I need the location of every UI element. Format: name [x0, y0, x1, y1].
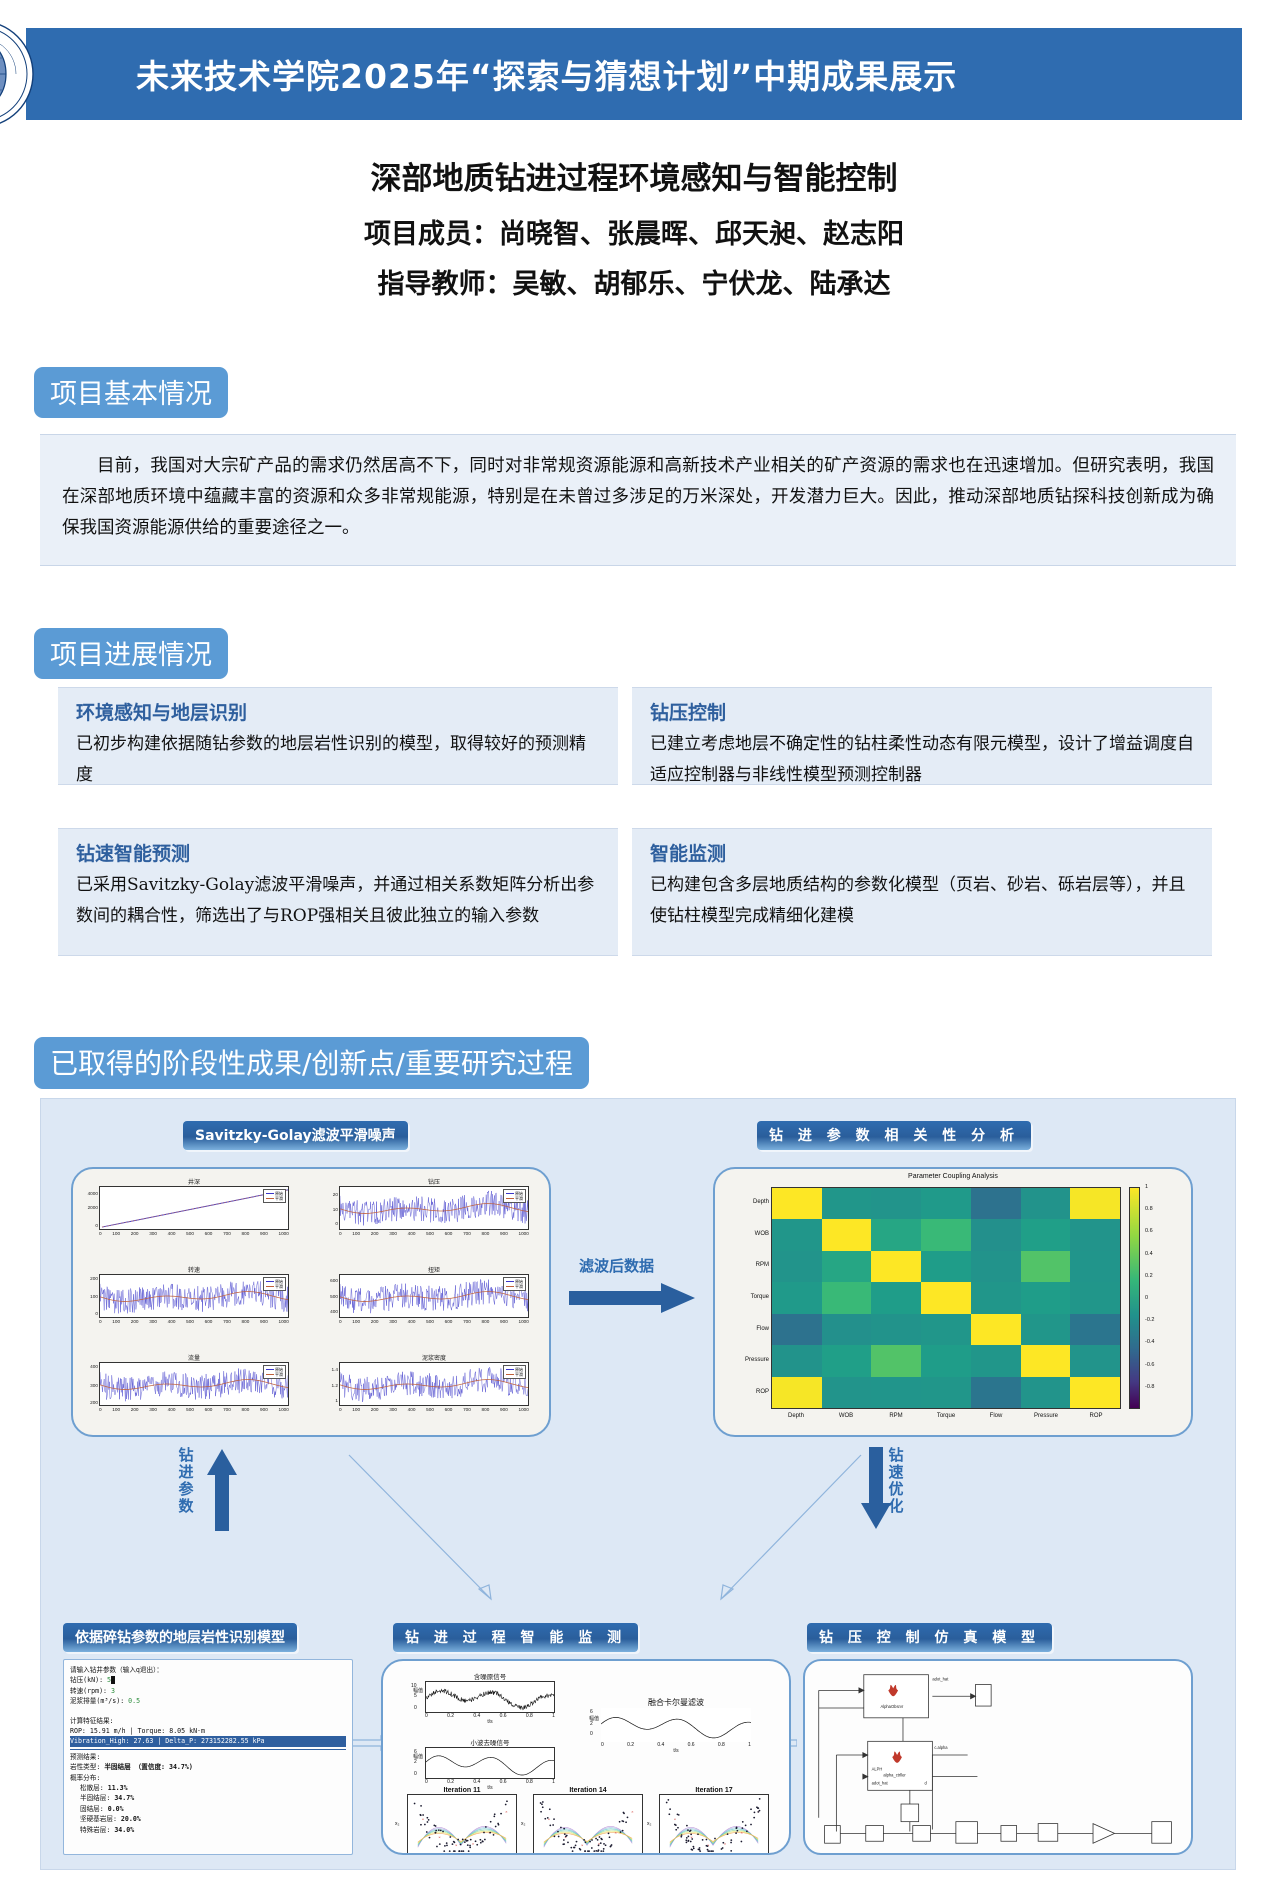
- iteration-title: Iteration 17: [659, 1787, 769, 1794]
- page-title: 深部地质钻进过程环境感知与智能控制: [0, 153, 1268, 198]
- legend: 原始 平滑: [263, 1189, 286, 1203]
- prediction-type-label: 岩性类型:: [70, 1763, 104, 1771]
- subplot-title: 泥浆密度: [339, 1353, 529, 1362]
- simulink-model-panel: AlphaObsrvr alpha_ctrller adot_hat c.alp…: [803, 1659, 1193, 1855]
- section-header-basic: 项目基本情况: [34, 367, 228, 418]
- heatmap-cell: [1070, 1251, 1120, 1282]
- y-axis-label: 幅值: [579, 1715, 599, 1722]
- monitoring-charts-panel: 含噪原信号 00.20.40.60.81 t/s 幅值 10 5 0 小波去噪信…: [381, 1659, 791, 1855]
- heatmap-cell: [772, 1251, 822, 1282]
- terminal-output: 请输入钻井参数（输入q退出）： 钻压(kN): 5| 转速(rpm): 3 泥浆…: [64, 1660, 352, 1840]
- heatmap-cell: [822, 1377, 872, 1408]
- heatmap-cell: [772, 1219, 822, 1250]
- heatmap-col-label: ROP: [1071, 1413, 1121, 1419]
- field-label: 钻压(kN):: [70, 1676, 107, 1684]
- field-value[interactable]: 3: [111, 1687, 115, 1695]
- card-body: 已采用Savitzky-Golay滤波平滑噪声，并通过相关系数矩阵分析出参数间的…: [76, 870, 602, 932]
- heatmap-cell: [971, 1314, 1021, 1345]
- probability-value: 20.0%: [121, 1815, 141, 1823]
- progress-card: 钻压控制 已建立考虑地层不确定性的钻柱柔性动态有限元模型，设计了增益调度自适应控…: [632, 687, 1212, 785]
- x-axis-label: t/s: [601, 1748, 751, 1754]
- heatmap-row-label: ROP: [721, 1389, 769, 1395]
- colorbar-tick: -0.8: [1145, 1384, 1154, 1390]
- pill-correlation: 钻 进 参 数 相 关 性 分 析: [757, 1121, 1031, 1150]
- probability-value: 0.0%: [108, 1805, 124, 1813]
- heatmap-cell: [921, 1251, 971, 1282]
- field-label: 转速(rpm):: [70, 1687, 111, 1695]
- subplot-title: 含噪原信号: [425, 1671, 555, 1681]
- probability-label: 特殊岩层:: [80, 1826, 114, 1834]
- probability-value: 11.3%: [108, 1784, 128, 1792]
- heatmap-row-label: Flow: [721, 1326, 769, 1332]
- colorbar-tick: -0.4: [1145, 1339, 1154, 1345]
- heatmap-cell: [822, 1282, 872, 1313]
- subplot-title: 井深: [99, 1177, 289, 1186]
- banner-title: 未来技术学院2025年“探索与猜想计划”中期成果展示: [136, 50, 957, 98]
- heatmap-cell: [921, 1188, 971, 1219]
- probability-value: 34.7%: [114, 1794, 134, 1802]
- svg-text:×: ×: [631, 1809, 633, 1814]
- prediction-type-value: 半固结层 （置信度: 34.7%): [104, 1763, 192, 1771]
- heatmap-row-label: RPM: [721, 1262, 769, 1268]
- heatmap-cell: [1070, 1188, 1120, 1219]
- heatmap-cell: [1021, 1314, 1071, 1345]
- heatmap-cell: [1070, 1282, 1120, 1313]
- iteration-panel: Iteration 17××××××x₁x₂: [659, 1787, 769, 1855]
- heatmap-cell: [772, 1345, 822, 1376]
- iteration-title: Iteration 14: [533, 1787, 643, 1794]
- heatmap-cell: [971, 1219, 1021, 1250]
- svg-text:adot_hat: adot_hat: [932, 1677, 949, 1682]
- field-label: 泥浆排量(m³/s):: [70, 1697, 128, 1705]
- card-body: 已构建包含多层地质结构的参数化模型（页岩、砂岩、砾岩层等），并且使钻柱模型完成精…: [650, 870, 1196, 932]
- heatmap-cell: [822, 1314, 872, 1345]
- arrow-label-drilling-params: 钻进参数: [177, 1447, 195, 1515]
- heatmap-row-label: Pressure: [721, 1357, 769, 1363]
- colorbar-tick: 1: [1145, 1184, 1148, 1190]
- section-header-results: 已取得的阶段性成果/创新点/重要研究过程: [34, 1037, 589, 1089]
- arrow-label-filtered-data: 滤波后数据: [579, 1255, 654, 1276]
- heatmap-cell: [1021, 1377, 1071, 1408]
- pill-sg-filter: Savitzky-Golay滤波平滑噪声: [183, 1121, 408, 1150]
- svg-text:c.alpha: c.alpha: [934, 1745, 948, 1750]
- calc-line-1: ROP: 15.91 m/h | Torque: 8.05 kN·m: [70, 1726, 346, 1736]
- svg-text:ALPH: ALPH: [872, 1767, 883, 1772]
- probability-label: 固结层:: [80, 1805, 108, 1813]
- subplot-title: 流量: [99, 1353, 289, 1362]
- field-value[interactable]: 0.5: [128, 1697, 140, 1705]
- svg-text:×: ×: [422, 1816, 424, 1821]
- subplot-title: 转速: [99, 1265, 289, 1274]
- svg-text:×: ×: [741, 1830, 743, 1835]
- probability-label: 坚硬基岩层:: [80, 1815, 121, 1823]
- colorbar-tick: 0.6: [1145, 1228, 1153, 1234]
- heatmap-col-label: Depth: [771, 1413, 821, 1419]
- intro-paragraph: 目前，我国对大宗矿产品的需求仍然居高不下，同时对非常规资源能源和高新技术产业相关…: [62, 451, 1214, 544]
- progress-card: 环境感知与地层识别 已初步构建依据随钻参数的地层岩性识别的模型，取得较好的预测精…: [58, 687, 618, 785]
- progress-card: 钻速智能预测 已采用Savitzky-Golay滤波平滑噪声，并通过相关系数矩阵…: [58, 828, 618, 956]
- heatmap-row-label: WOB: [721, 1231, 769, 1237]
- heatmap-cell: [971, 1188, 1021, 1219]
- card-title: 钻压控制: [650, 698, 1196, 725]
- pill-monitoring: 钻 进 过 程 智 能 监 测: [393, 1623, 638, 1652]
- svg-text:×: ×: [472, 1841, 474, 1846]
- heatmap-cell: [822, 1251, 872, 1282]
- iteration-panel: Iteration 14××××××x₁x₂: [533, 1787, 643, 1855]
- svg-text:×: ×: [455, 1843, 457, 1848]
- poster-page: 未来技术学院2025年“探索与猜想计划”中期成果展示 深部地质钻进过程环境感知与…: [0, 0, 1268, 1902]
- svg-text:AlphaObsrvr: AlphaObsrvr: [880, 1704, 903, 1709]
- svg-text:×: ×: [505, 1809, 507, 1814]
- probability-label: 松散层:: [80, 1784, 108, 1792]
- heatmap-cell: [822, 1345, 872, 1376]
- heatmap-cell: [921, 1314, 971, 1345]
- svg-text:×: ×: [615, 1830, 617, 1835]
- heatmap-cell: [971, 1345, 1021, 1376]
- heatmap-col-label: Pressure: [1021, 1413, 1071, 1419]
- probability-label: 半固结层:: [80, 1794, 114, 1802]
- svg-text:×: ×: [581, 1843, 583, 1848]
- colorbar-tick: -0.2: [1145, 1317, 1154, 1323]
- colorbar-tick: 0.8: [1145, 1206, 1153, 1212]
- calc-line-2: Vibration_High: 27.63 | Delta_P: 2731522…: [70, 1736, 346, 1746]
- x-axis-label: t/s: [425, 1719, 555, 1725]
- intro-box: 目前，我国对大宗矿产品的需求仍然居高不下，同时对非常规资源能源和高新技术产业相关…: [40, 434, 1236, 566]
- svg-text:×: ×: [438, 1834, 440, 1839]
- iteration-panel: Iteration 11××××××x₁x₂: [407, 1787, 517, 1855]
- heatmap-cell: [1021, 1251, 1071, 1282]
- svg-text:×: ×: [724, 1841, 726, 1846]
- heatmap-cell: [871, 1314, 921, 1345]
- subplot-title: 融合卡尔曼滤波: [601, 1697, 751, 1708]
- arrow-diagonal-down-icon: [341, 1449, 541, 1619]
- svg-text:adot_hat: adot_hat: [872, 1780, 889, 1785]
- heatmap-cell: [1021, 1282, 1071, 1313]
- subplot-title: 小波去噪信号: [425, 1737, 555, 1747]
- prediction-header: 预测结果:: [70, 1752, 346, 1762]
- subplot-title: 钻压: [339, 1177, 529, 1186]
- terminal-prompt: 请输入钻井参数（输入q退出）：: [70, 1665, 346, 1675]
- probability-header: 概率分布:: [70, 1773, 346, 1783]
- svg-text:×: ×: [674, 1816, 676, 1821]
- y-axis-label: 幅值: [403, 1753, 423, 1760]
- heatmap-cell: [871, 1188, 921, 1219]
- colorbar-tick: 0.4: [1145, 1251, 1153, 1257]
- arrow-up-icon: [205, 1447, 239, 1531]
- pill-lithology: 依据碎钻参数的地层岩性识别模型: [63, 1623, 297, 1652]
- sg-filter-chart-panel: 井深 400020000 原始 平滑 010020030040050060070…: [71, 1167, 551, 1437]
- project-members: 项目成员：尚晓智、张晨晖、邱天昶、赵志阳: [0, 212, 1268, 251]
- heatmap-cell: [921, 1377, 971, 1408]
- heatmap-cell: [1070, 1219, 1120, 1250]
- arrow-diagonal-down-left-icon: [681, 1449, 881, 1619]
- heatmap-cell: [1021, 1219, 1071, 1250]
- colorbar-tick: -0.6: [1145, 1362, 1154, 1368]
- heatmap-cell: [921, 1219, 971, 1250]
- heatmap-title: Parameter Coupling Analysis: [715, 1169, 1191, 1180]
- simulink-block-diagram: AlphaObsrvr alpha_ctrller adot_hat c.alp…: [805, 1661, 1191, 1853]
- colorbar-tick: 0: [1145, 1295, 1148, 1301]
- heatmap-cell: [971, 1377, 1021, 1408]
- subplot-title: 扭矩: [339, 1265, 529, 1274]
- poster-banner: 未来技术学院2025年“探索与猜想计划”中期成果展示: [26, 28, 1242, 120]
- heatmap-cell: [871, 1251, 921, 1282]
- heatmap-row-label: Depth: [721, 1199, 769, 1205]
- heatmap-cell: [772, 1314, 822, 1345]
- probability-value: 34.0%: [114, 1826, 134, 1834]
- card-title: 智能监测: [650, 839, 1196, 866]
- calc-header: 计算特征结果:: [70, 1716, 346, 1726]
- heatmap-cell: [772, 1188, 822, 1219]
- heatmap-cell: [1070, 1314, 1120, 1345]
- heatmap-col-label: Torque: [921, 1413, 971, 1419]
- heatmap-colorbar: [1129, 1187, 1140, 1409]
- heatmap-cell: [822, 1188, 872, 1219]
- correlation-heatmap-panel: Parameter Coupling Analysis DepthWOBRPMT…: [713, 1167, 1193, 1437]
- heatmap-cell: [1021, 1345, 1071, 1376]
- arrow-right-icon: [569, 1281, 697, 1315]
- heatmap-cell: [772, 1377, 822, 1408]
- heatmap-cell: [822, 1219, 872, 1250]
- heatmap-row-label: Torque: [721, 1294, 769, 1300]
- heatmap-col-label: RPM: [871, 1413, 921, 1419]
- iteration-title: Iteration 11: [407, 1787, 517, 1794]
- heatmap-col-label: Flow: [971, 1413, 1021, 1419]
- heatmap-col-label: WOB: [821, 1413, 871, 1419]
- section-header-progress: 项目进展情况: [34, 628, 228, 679]
- results-diagram: Savitzky-Golay滤波平滑噪声 钻 进 参 数 相 关 性 分 析 依…: [40, 1098, 1236, 1870]
- heatmap-cell: [1021, 1188, 1071, 1219]
- card-title: 环境感知与地层识别: [76, 698, 602, 725]
- heatmap-grid: [771, 1187, 1121, 1409]
- heatmap-cell: [971, 1282, 1021, 1313]
- card-title: 钻速智能预测: [76, 839, 602, 866]
- project-advisors: 指导教师：吴敏、胡郁乐、宁伏龙、陆承达: [0, 262, 1268, 301]
- colorbar-tick: 0.2: [1145, 1273, 1153, 1279]
- heatmap-cell: [1070, 1345, 1120, 1376]
- heatmap-cell: [1070, 1377, 1120, 1408]
- card-body: 已建立考虑地层不确定性的钻柱柔性动态有限元模型，设计了增益调度自适应控制器与非线…: [650, 729, 1196, 791]
- progress-card: 智能监测 已构建包含多层地质结构的参数化模型（页岩、砂岩、砾岩层等），并且使钻柱…: [632, 828, 1212, 956]
- card-body: 已初步构建依据随钻参数的地层岩性识别的模型，取得较好的预测精度: [76, 729, 602, 791]
- heatmap-cell: [871, 1377, 921, 1408]
- heatmap-cell: [921, 1282, 971, 1313]
- heatmap-cell: [921, 1345, 971, 1376]
- pill-wob-sim: 钻 压 控 制 仿 真 模 型: [807, 1623, 1052, 1652]
- svg-text:alpha_ctrller: alpha_ctrller: [883, 1773, 906, 1778]
- heatmap-cell: [971, 1251, 1021, 1282]
- heatmap-cell: [871, 1282, 921, 1313]
- heatmap-cell: [871, 1345, 921, 1376]
- lithology-terminal-panel: 请输入钻井参数（输入q退出）： 钻压(kN): 5| 转速(rpm): 3 泥浆…: [63, 1659, 353, 1855]
- heatmap-cell: [772, 1282, 822, 1313]
- university-emblem-icon: [0, 18, 36, 130]
- heatmap-cell: [871, 1219, 921, 1250]
